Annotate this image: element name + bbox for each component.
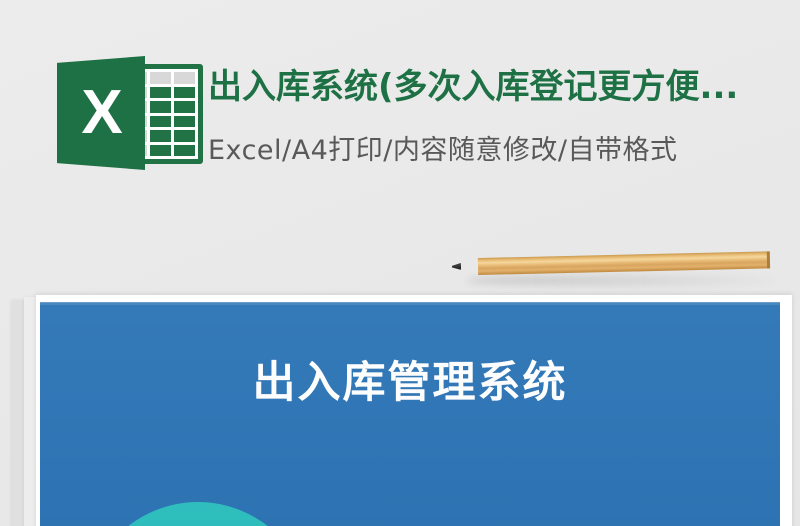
pencil-body [478,251,770,275]
screenshot-stage: X 出入库系统(多次入库登记更方便... Excel/A4打印/内容随意修改/自… [0,0,800,526]
pencil-shadow [466,275,778,286]
header-banner: X 出入库系统(多次入库登记更方便... Excel/A4打印/内容随意修改/自… [0,0,800,240]
page-title: 出入库系统(多次入库登记更方便... [208,62,800,112]
preview-card-title: 出入库管理系统 [40,354,780,412]
template-preview-card[interactable]: 出入库管理系统 [40,302,780,526]
pencil-icon [452,255,782,289]
excel-letter-x: X [57,56,145,170]
pencil-tip-lead [452,263,461,270]
title-block: 出入库系统(多次入库登记更方便... Excel/A4打印/内容随意修改/自带格… [208,62,800,174]
excel-file-icon: X [57,56,203,170]
accent-circle [85,502,311,526]
card-shading-overlay [40,302,780,526]
page-subtitle: Excel/A4打印/内容随意修改/自带格式 [208,128,800,174]
